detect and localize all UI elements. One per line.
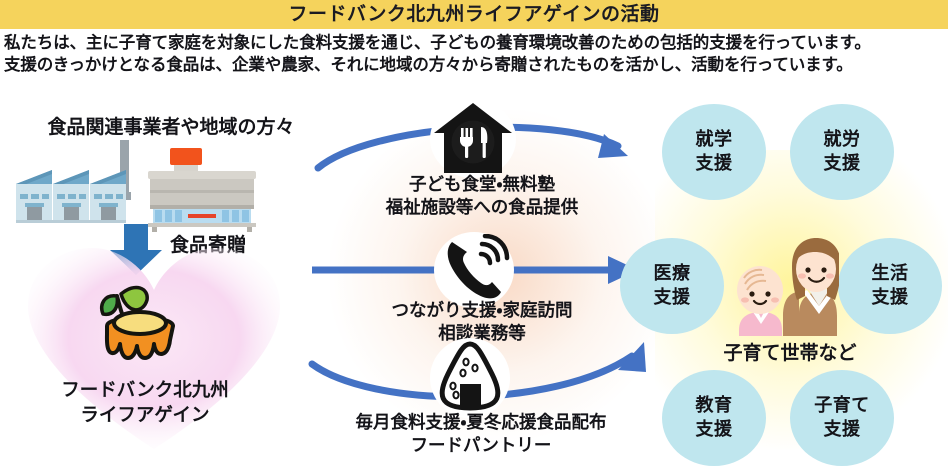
support-bubble-livelihood-label: 生活 支援 — [872, 262, 909, 310]
support-bubble-medical-label: 医療 支援 — [654, 262, 691, 310]
infographic-page: フードバンク北九州ライフアゲインの活動 私たちは、主に子育て家庭を対象にした食料… — [0, 0, 948, 474]
flow-food-provision-caption-line-1: 子ども食堂・無料塾 — [312, 174, 652, 197]
onigiri-badge — [430, 338, 510, 418]
flow-food-pantry-caption: 毎月食料支援・夏冬応援食品配布 フードパントリー — [302, 412, 660, 458]
mother-and-baby-icon — [735, 232, 839, 342]
support-bubble-employment-label: 就労 支援 — [824, 128, 861, 176]
flow-food-provision: 子ども食堂・無料塾 福祉施設等への食品提供 — [312, 100, 652, 230]
flow-outreach-support-caption-line-1: つながり支援・家庭訪問 — [312, 300, 652, 323]
onigiri-icon — [432, 340, 508, 416]
support-bubble-livelihood: 生活 支援 — [838, 238, 942, 334]
phone-ringing-icon — [436, 234, 512, 306]
basket-sprout-logo-icon — [85, 278, 195, 370]
store-icon — [148, 148, 256, 232]
support-bubble-education-label: 教育 支援 — [696, 394, 733, 442]
page-title: フードバンク北九州ライフアゲインの活動 — [288, 0, 659, 29]
flow-food-pantry-caption-line-2: フードパントリー — [302, 435, 660, 458]
house-meal-badge — [430, 100, 516, 178]
donor-label: 食品関連事業者や地域の方々 — [26, 112, 316, 139]
title-band: フードバンク北九州ライフアゲインの活動 — [0, 0, 948, 29]
support-bubble-childcare-label: 子育て 支援 — [814, 394, 870, 442]
support-bubble-schooling: 就学 支援 — [662, 104, 766, 200]
factory-icon — [12, 140, 262, 232]
organization-logo — [85, 278, 195, 370]
support-bubble-childcare: 子育て 支援 — [790, 370, 894, 466]
phone-ringing-badge — [434, 232, 514, 308]
support-bubble-employment: 就労 支援 — [790, 104, 894, 200]
house-meal-icon — [432, 101, 514, 177]
family-label: 子育て世帯など — [660, 338, 920, 365]
organization-name: フードバンク北九州 ライフアゲイン — [20, 378, 270, 428]
factory-and-store-illustration — [12, 140, 262, 232]
support-bubble-education: 教育 支援 — [662, 370, 766, 466]
intro-paragraph: 私たちは、主に子育て家庭を対象にした食料支援を通じ、子どもの養育環境改善のための… — [4, 33, 948, 77]
organization-name-line-2: ライフアゲイン — [20, 403, 270, 428]
flow-food-provision-caption: 子ども食堂・無料塾 福祉施設等への食品提供 — [312, 174, 652, 220]
flow-food-provision-caption-line-2: 福祉施設等への食品提供 — [312, 197, 652, 220]
organization-name-line-1: フードバンク北九州 — [20, 378, 270, 403]
family-illustration — [735, 232, 839, 342]
intro-line-1: 私たちは、主に子育て家庭を対象にした食料支援を通じ、子どもの養育環境改善のための… — [4, 33, 948, 53]
support-bubble-schooling-label: 就学 支援 — [696, 128, 733, 176]
flow-food-pantry: 毎月食料支援・夏冬応援食品配布 フードパントリー — [302, 342, 660, 470]
intro-line-2: 支援のきっかけとなる食品は、企業や農家、それに地域の方々から寄贈されたものを活か… — [4, 55, 948, 75]
flow-food-pantry-caption-line-1: 毎月食料支援・夏冬応援食品配布 — [302, 412, 660, 435]
support-bubble-medical: 医療 支援 — [620, 238, 724, 334]
